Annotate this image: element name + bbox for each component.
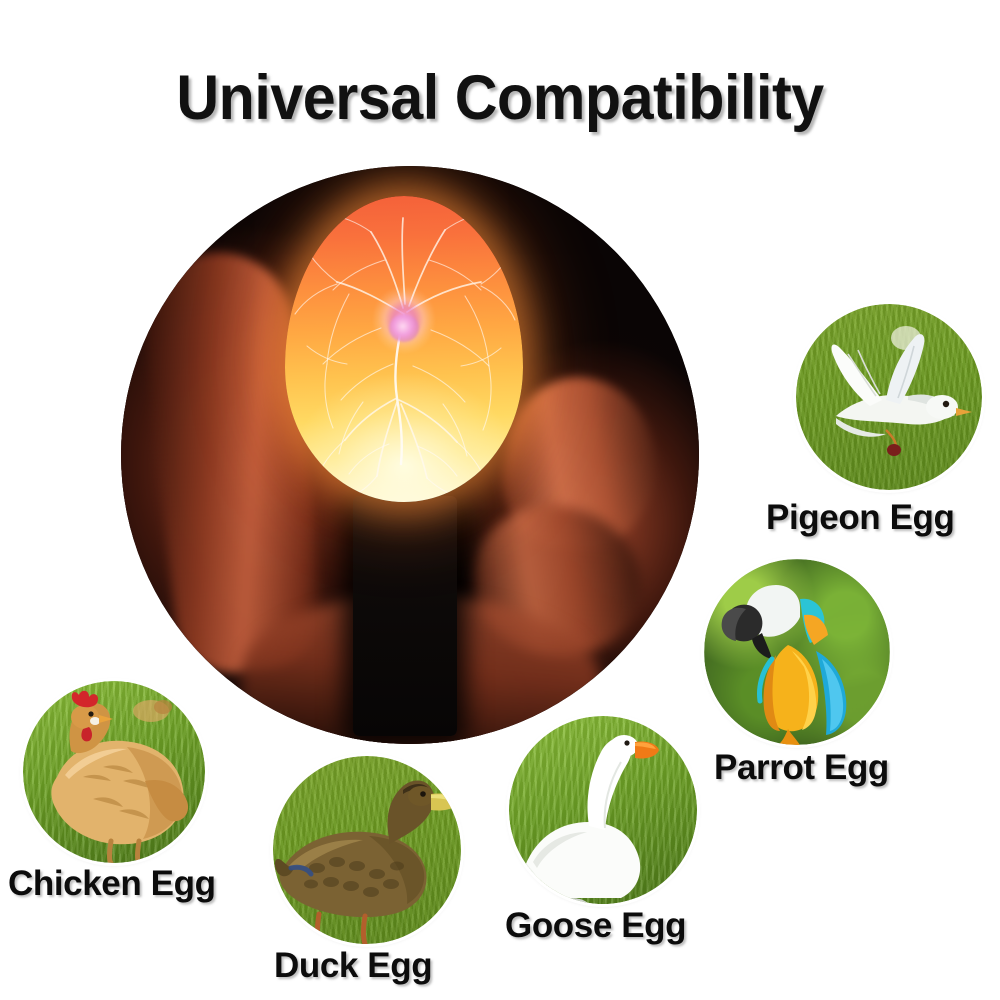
chip-parrot[interactable] (704, 559, 890, 745)
page-title: Universal Compatibility (30, 62, 970, 134)
goose-illustration (509, 716, 697, 904)
illuminated-egg (285, 196, 523, 502)
pigeon-illustration (796, 304, 982, 490)
parrot-photo (704, 559, 890, 745)
chicken-photo (23, 681, 205, 863)
chip-duck[interactable] (273, 756, 461, 944)
chip-label-chicken: Chicken Egg (8, 864, 216, 904)
chip-label-parrot: Parrot Egg (714, 748, 889, 788)
chip-label-goose: Goose Egg (505, 906, 686, 946)
chip-label-duck: Duck Egg (274, 946, 432, 986)
infographic-page: Universal Compatibility (0, 0, 1000, 1000)
macaw-illustration (704, 559, 890, 745)
duck-photo (273, 756, 461, 944)
goose-photo (509, 716, 697, 904)
embryo-core (389, 314, 419, 342)
hen-illustration (23, 681, 205, 863)
mallard-duck-illustration (273, 756, 461, 944)
egg-candler-device (353, 496, 457, 736)
chip-goose[interactable] (509, 716, 697, 904)
chip-chicken[interactable] (23, 681, 205, 863)
hero-scene (121, 166, 699, 744)
chip-pigeon[interactable] (796, 304, 982, 490)
pigeon-photo (796, 304, 982, 490)
hero-candling-circle (121, 166, 699, 744)
chip-label-pigeon: Pigeon Egg (766, 498, 955, 538)
